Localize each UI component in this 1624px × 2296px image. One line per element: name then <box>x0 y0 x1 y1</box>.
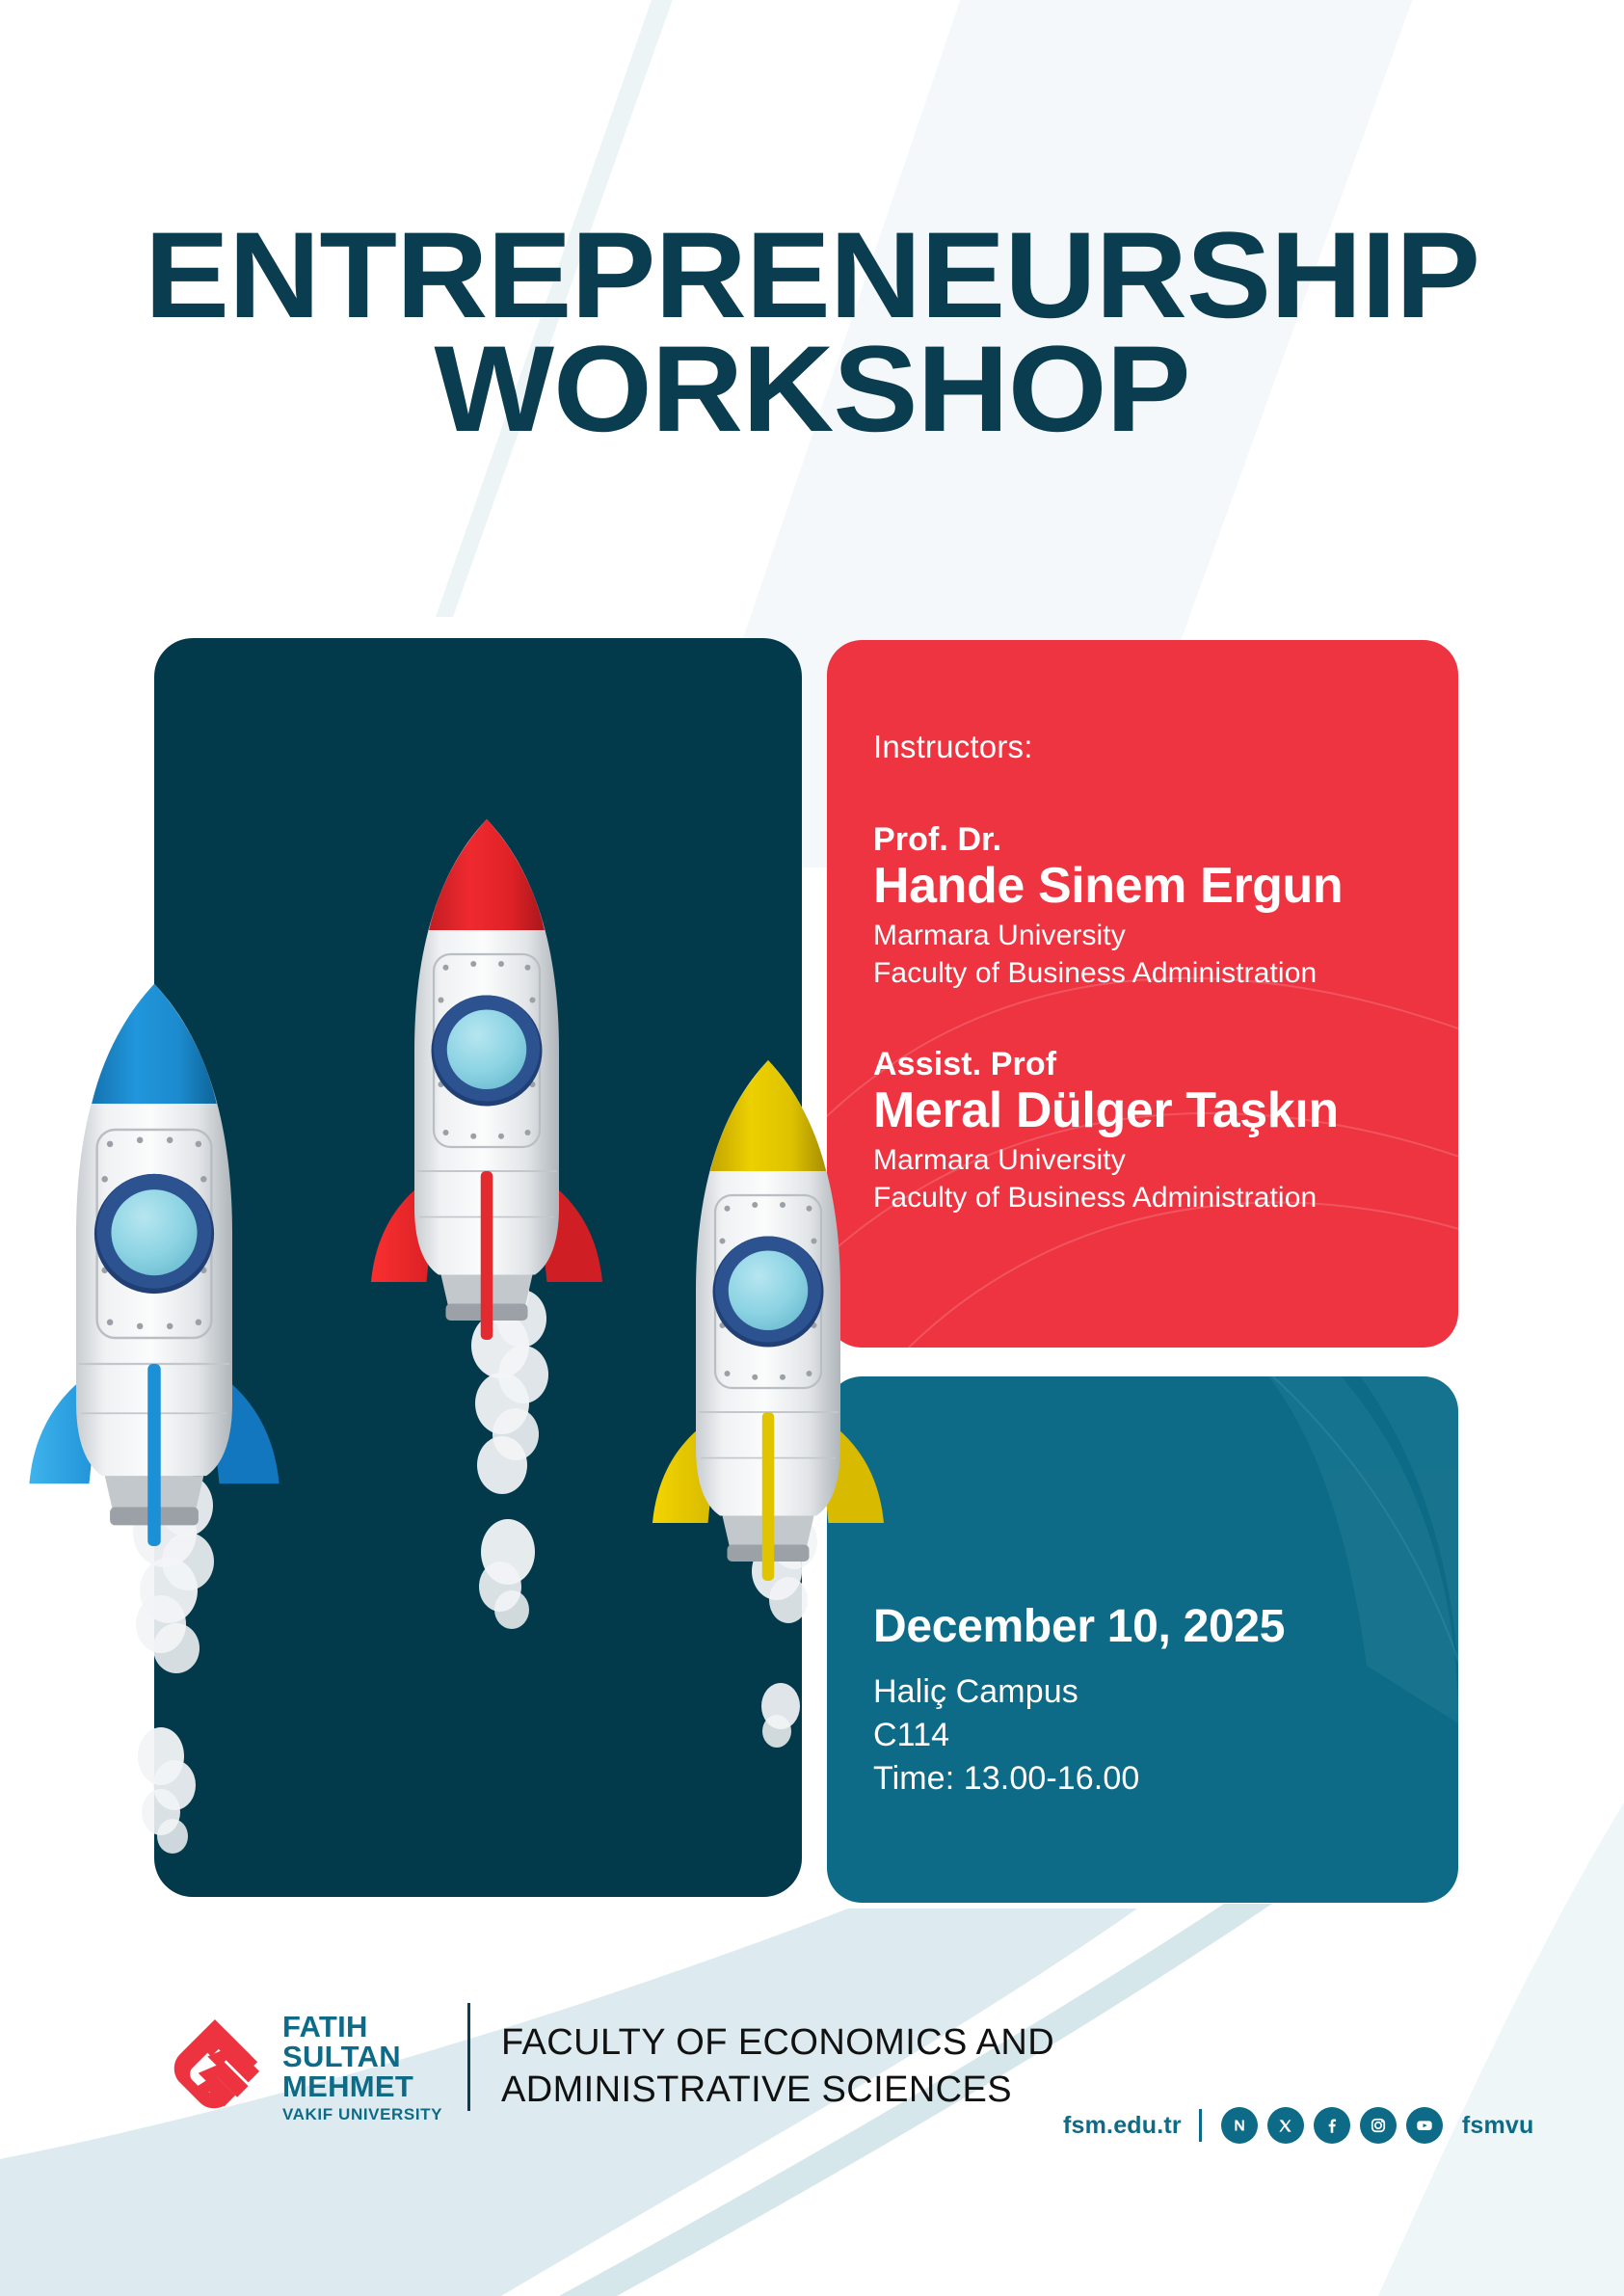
instagram-icon[interactable] <box>1360 2107 1397 2144</box>
logo-wordmark: FATIH SULTAN MEHMET VAKIF UNIVERSITY <box>282 2012 442 2122</box>
instructors-content: Instructors: Prof. Dr. Hande Sinem Ergun… <box>873 729 1433 1216</box>
social-media-row: fsm.edu.tr <box>1063 2107 1534 2144</box>
poster-title: ENTREPRENEURSHIP WORKSHOP <box>0 222 1624 443</box>
instructors-label: Instructors: <box>873 729 1433 765</box>
social-handle[interactable]: fsmvu <box>1462 2112 1534 2140</box>
instructor-2: Assist. Prof Meral Dülger Taşkın Marmara… <box>873 1046 1433 1216</box>
instructor-2-title: Assist. Prof <box>873 1046 1433 1083</box>
university-logo: FATIH SULTAN MEHMET VAKIF UNIVERSITY <box>169 2012 442 2122</box>
faculty-line-1: FACULTY OF ECONOMICS AND <box>501 2019 1054 2067</box>
website-url[interactable]: fsm.edu.tr <box>1063 2112 1182 2140</box>
social-separator <box>1199 2109 1202 2142</box>
footer-divider <box>467 2003 470 2111</box>
facebook-icon[interactable] <box>1314 2107 1350 2144</box>
youtube-icon[interactable] <box>1406 2107 1443 2144</box>
instructor-1: Prof. Dr. Hande Sinem Ergun Marmara Univ… <box>873 821 1433 992</box>
instructors-panel: Instructors: Prof. Dr. Hande Sinem Ergun… <box>827 640 1458 1348</box>
rocket-yellow <box>648 1051 889 1581</box>
event-details-panel: December 10, 2025 Haliç Campus C114 Time… <box>827 1376 1458 1903</box>
rocket-blue <box>24 974 284 1546</box>
faculty-line-2: ADMINISTRATIVE SCIENCES <box>501 2067 1054 2114</box>
event-room: C114 <box>873 1714 1433 1757</box>
title-line-2: WORKSHOP <box>0 335 1624 443</box>
x-twitter-icon[interactable] <box>1267 2107 1304 2144</box>
instructor-1-affiliation-2: Faculty of Business Administration <box>873 954 1433 992</box>
event-content: December 10, 2025 Haliç Campus C114 Time… <box>873 1600 1433 1802</box>
logo-line-1: FATIH <box>282 2012 442 2042</box>
instructor-1-name: Hande Sinem Ergun <box>873 860 1433 913</box>
instructor-1-affiliation-1: Marmara University <box>873 917 1433 954</box>
logo-line-2: SULTAN <box>282 2042 442 2071</box>
fsm-logo-icon <box>169 2017 261 2118</box>
instructor-2-affiliation-1: Marmara University <box>873 1141 1433 1179</box>
title-line-1: ENTREPRENEURSHIP <box>0 222 1624 330</box>
instructor-2-affiliation-2: Faculty of Business Administration <box>873 1179 1433 1216</box>
instructor-1-title: Prof. Dr. <box>873 821 1433 859</box>
logo-subtitle: VAKIF UNIVERSITY <box>282 2106 442 2122</box>
n-icon[interactable] <box>1221 2107 1258 2144</box>
event-campus: Haliç Campus <box>873 1670 1433 1714</box>
event-date: December 10, 2025 <box>873 1600 1433 1653</box>
event-time: Time: 13.00-16.00 <box>873 1757 1433 1801</box>
logo-line-3: MEHMET <box>282 2071 442 2101</box>
instructor-2-name: Meral Dülger Taşkın <box>873 1084 1433 1137</box>
rocket-red <box>366 810 607 1340</box>
poster-canvas: ENTREPRENEURSHIP WORKSHOP <box>0 0 1624 2296</box>
faculty-name: FACULTY OF ECONOMICS AND ADMINISTRATIVE … <box>501 2019 1054 2113</box>
